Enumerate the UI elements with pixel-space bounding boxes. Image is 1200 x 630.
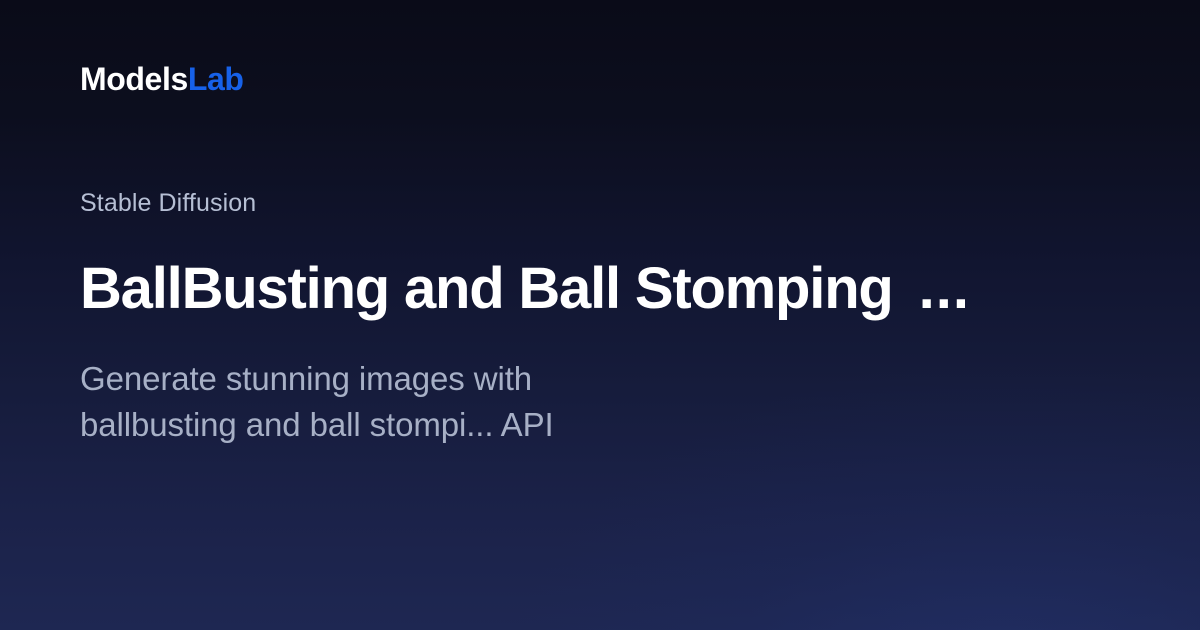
description-line: Generate stunning images with — [80, 356, 720, 402]
page-title: BallBusting and Ball Stomping... — [80, 258, 1120, 321]
category-label: Stable Diffusion — [80, 190, 256, 218]
page-description: Generate stunning images with ballbustin… — [80, 356, 720, 447]
page-title-ellipsis: ... — [919, 258, 970, 321]
page-title-text: BallBusting and Ball Stomping — [80, 258, 893, 321]
modelslab-logo[interactable]: ModelsLab — [80, 63, 244, 95]
logo-text-models: Models — [80, 61, 188, 97]
card-content: ModelsLab Stable Diffusion BallBusting a… — [0, 0, 1200, 630]
logo-text-lab: Lab — [188, 61, 244, 97]
description-line: ballbusting and ball stompi... API — [80, 402, 720, 448]
og-share-card: ModelsLab Stable Diffusion BallBusting a… — [0, 0, 1200, 630]
